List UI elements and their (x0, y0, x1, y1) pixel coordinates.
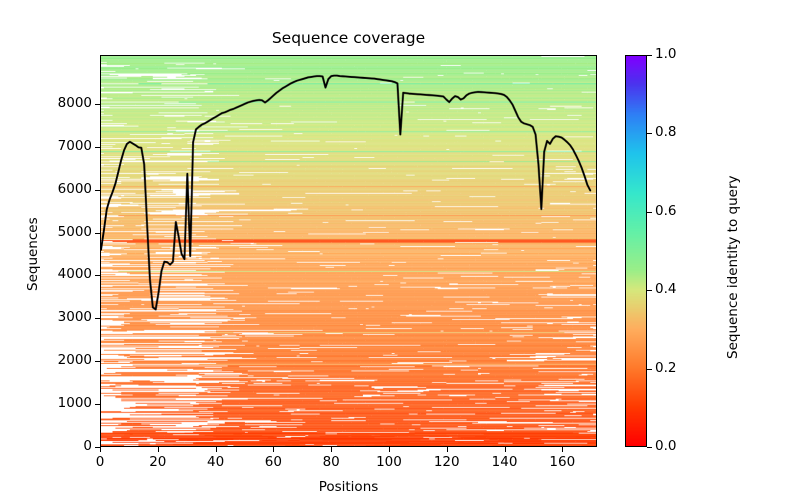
chart-title: Sequence coverage (100, 29, 597, 47)
x-tick-label: 100 (359, 454, 419, 470)
y-tick-mark (95, 190, 100, 191)
colorbar-tick-mark (647, 133, 652, 134)
x-tick-mark (389, 447, 390, 452)
x-tick-label: 120 (417, 454, 477, 470)
x-tick-mark (505, 447, 506, 452)
figure-canvas: Sequence coverage 0100020003000400050006… (0, 0, 800, 500)
colorbar-gradient (626, 56, 646, 446)
colorbar-tick-label: 0.4 (655, 281, 676, 297)
colorbar-label: Sequence identity to query (725, 176, 741, 360)
y-tick-mark (95, 404, 100, 405)
x-tick-label: 140 (475, 454, 535, 470)
colorbar-tick-label: 0.0 (655, 438, 676, 454)
coverage-curve (101, 56, 596, 446)
x-tick-label: 160 (532, 454, 592, 470)
colorbar-tick-label: 0.6 (655, 203, 676, 219)
x-tick-label: 20 (128, 454, 188, 470)
y-tick-label: 8000 (22, 95, 92, 111)
colorbar-tick-label: 0.2 (655, 360, 676, 376)
x-tick-label: 0 (70, 454, 130, 470)
x-tick-mark (158, 447, 159, 452)
colorbar-tick-mark (647, 290, 652, 291)
x-tick-mark (100, 447, 101, 452)
y-tick-label: 1000 (22, 395, 92, 411)
colorbar-tick-mark (647, 55, 652, 56)
colorbar-tick-mark (647, 212, 652, 213)
x-tick-mark (562, 447, 563, 452)
x-axis-label: Positions (100, 479, 597, 495)
y-tick-label: 6000 (22, 181, 92, 197)
x-tick-mark (216, 447, 217, 452)
x-tick-label: 40 (186, 454, 246, 470)
y-tick-label: 0 (22, 438, 92, 454)
x-tick-label: 60 (243, 454, 303, 470)
x-tick-mark (447, 447, 448, 452)
y-tick-label: 7000 (22, 138, 92, 154)
y-tick-mark (95, 233, 100, 234)
colorbar-tick-label: 1.0 (655, 46, 676, 62)
heatmap-axes (100, 55, 597, 447)
y-tick-mark (95, 361, 100, 362)
colorbar-tick-label: 0.8 (655, 124, 676, 140)
y-tick-label: 3000 (22, 309, 92, 325)
x-tick-mark (331, 447, 332, 452)
x-tick-label: 80 (301, 454, 361, 470)
y-axis-label: Sequences (25, 217, 41, 291)
x-tick-mark (273, 447, 274, 452)
y-tick-label: 2000 (22, 352, 92, 368)
colorbar-tick-mark (647, 447, 652, 448)
colorbar-tick-mark (647, 369, 652, 370)
y-tick-mark (95, 104, 100, 105)
colorbar (625, 55, 647, 447)
y-tick-mark (95, 147, 100, 148)
y-tick-mark (95, 275, 100, 276)
y-tick-mark (95, 318, 100, 319)
